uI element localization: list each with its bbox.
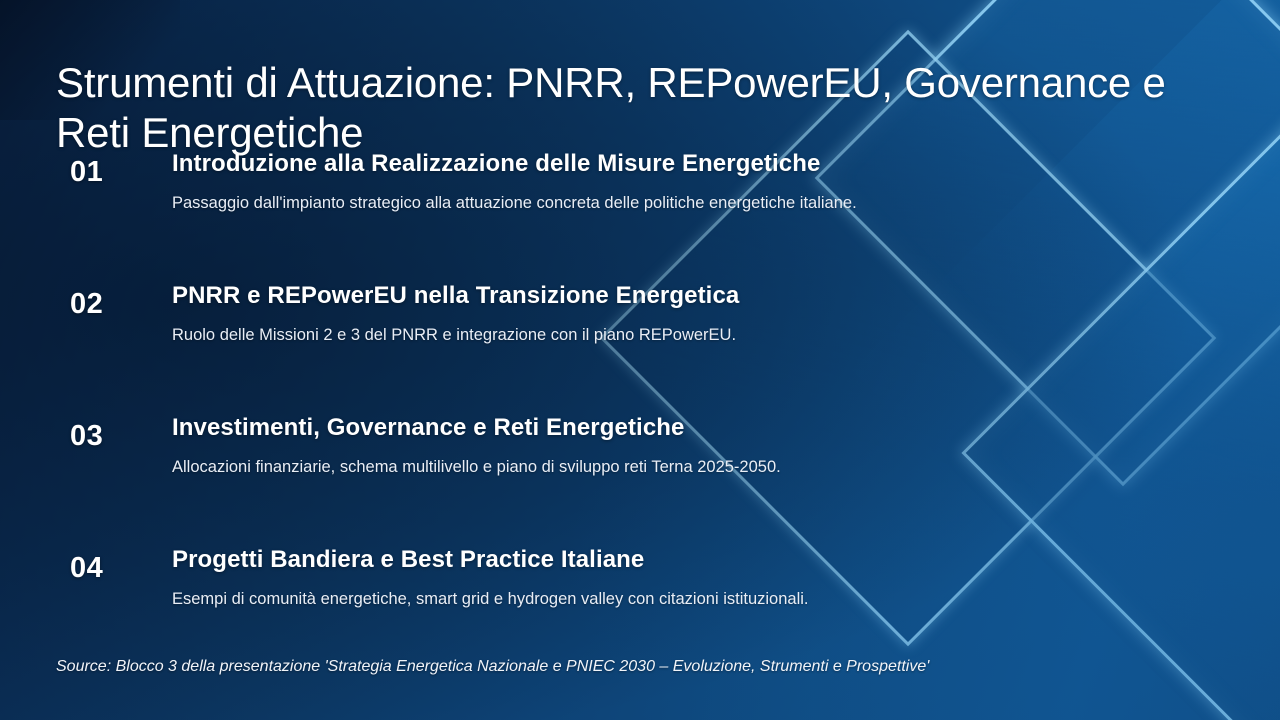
list-item-description: Ruolo delle Missioni 2 e 3 del PNRR e in… [172,325,1132,346]
list-item-heading: Investimenti, Governance e Reti Energeti… [172,414,1132,443]
list-item-number: 04 [70,552,160,585]
list-item: 01 Introduzione alla Realizzazione delle… [0,150,1280,282]
source-citation: Source: Blocco 3 della presentazione 'St… [56,658,929,676]
list-item-description: Allocazioni finanziarie, schema multiliv… [172,457,1132,478]
slide-title: Strumenti di Attuazione: PNRR, REPowerEU… [56,58,1166,157]
agenda-list: 01 Introduzione alla Realizzazione delle… [0,150,1280,678]
list-item-body: Investimenti, Governance e Reti Energeti… [172,414,1132,478]
list-item-number: 03 [70,420,160,453]
list-item-number: 02 [70,288,160,321]
list-item-description: Esempi di comunità energetiche, smart gr… [172,589,1132,610]
list-item-heading: Introduzione alla Realizzazione delle Mi… [172,150,1132,179]
list-item-description: Passaggio dall'impianto strategico alla … [172,193,1132,214]
list-item: 02 PNRR e REPowerEU nella Transizione En… [0,282,1280,414]
list-item-body: PNRR e REPowerEU nella Transizione Energ… [172,282,1132,346]
list-item-number: 01 [70,156,160,189]
list-item-heading: PNRR e REPowerEU nella Transizione Energ… [172,282,1132,311]
list-item: 03 Investimenti, Governance e Reti Energ… [0,414,1280,546]
list-item-body: Introduzione alla Realizzazione delle Mi… [172,150,1132,214]
presentation-slide: Strumenti di Attuazione: PNRR, REPowerEU… [0,0,1280,720]
list-item-body: Progetti Bandiera e Best Practice Italia… [172,546,1132,610]
list-item-heading: Progetti Bandiera e Best Practice Italia… [172,546,1132,575]
